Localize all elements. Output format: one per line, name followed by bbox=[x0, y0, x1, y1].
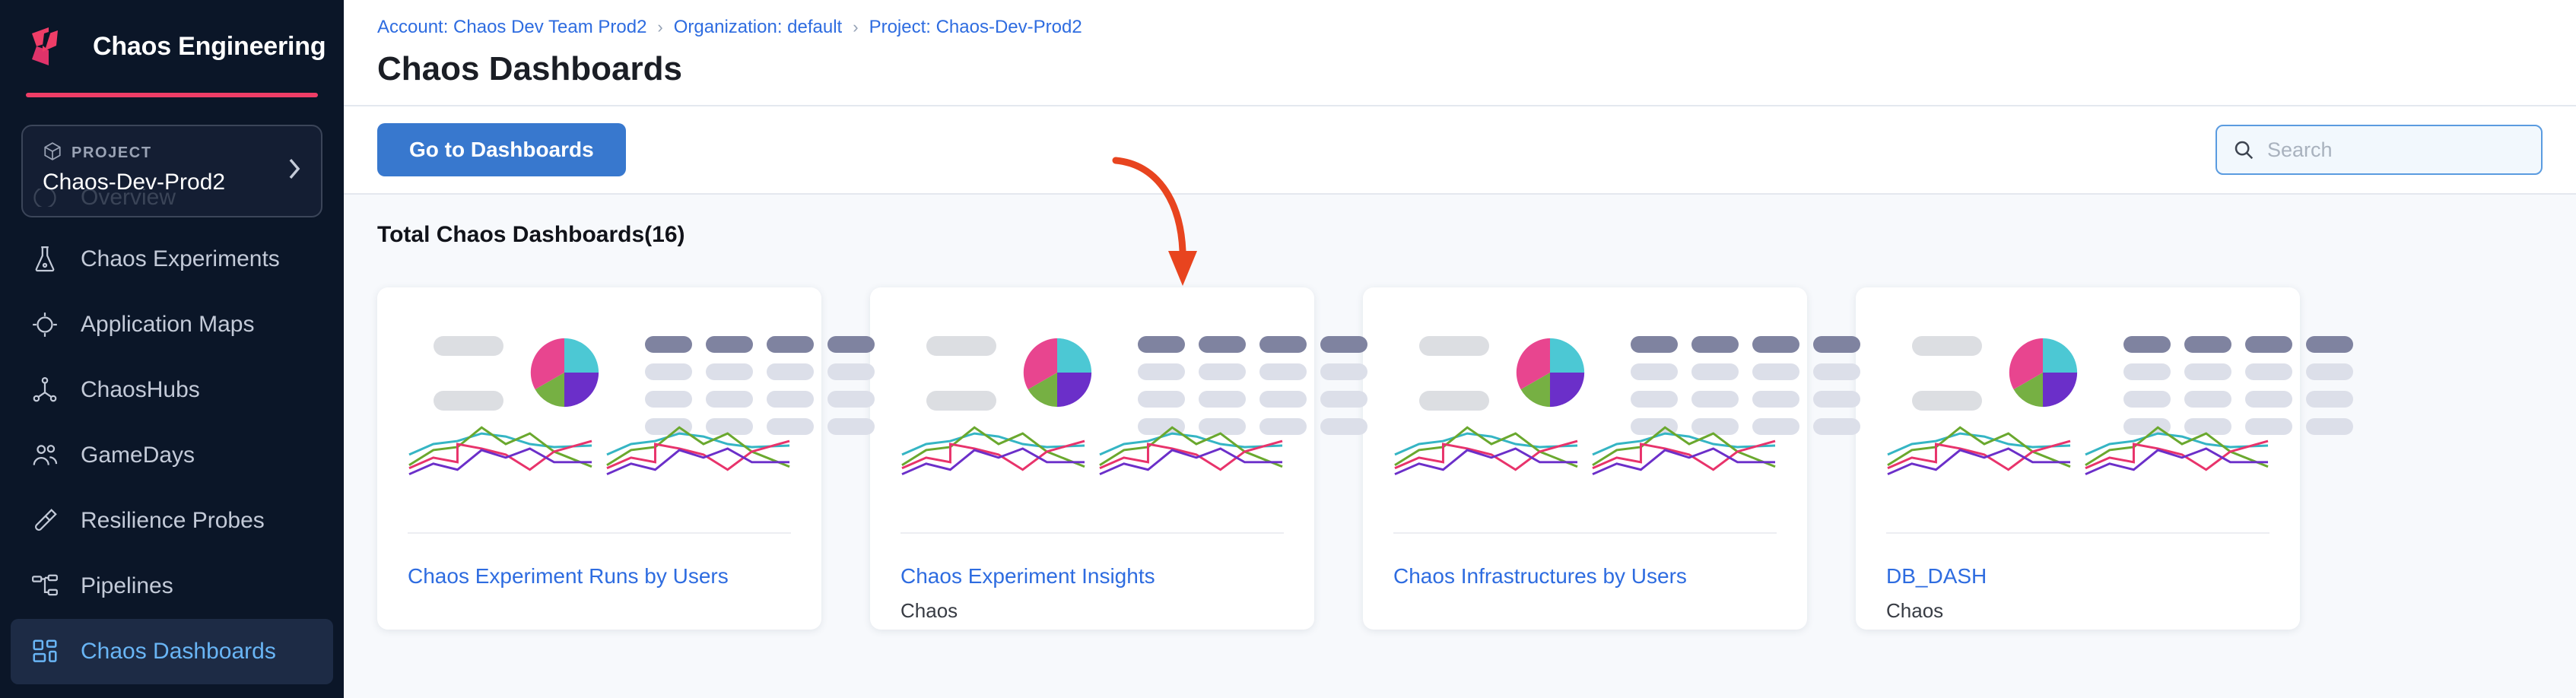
sidebar-item-resilience-probes[interactable]: Resilience Probes bbox=[11, 488, 333, 554]
sidebar-nav-scroll[interactable]: Overview Chaos Experiments bbox=[0, 189, 344, 698]
target-icon bbox=[29, 309, 61, 341]
sidebar-item-application-maps[interactable]: Application Maps bbox=[11, 292, 333, 357]
sidebar-item-overview[interactable]: Overview bbox=[11, 189, 333, 207]
breadcrumb-project[interactable]: Project: Chaos-Dev-Prod2 bbox=[869, 17, 1082, 38]
dashboard-card-title[interactable]: Chaos Experiment Runs by Users bbox=[408, 564, 791, 589]
dashboard-thumbnail bbox=[1393, 322, 1777, 505]
breadcrumb: Account: Chaos Dev Team Prod2 › Organiza… bbox=[377, 17, 2543, 38]
sidebar-item-gamedays[interactable]: GameDays bbox=[11, 423, 333, 488]
action-toolbar: Go to Dashboards bbox=[344, 105, 2576, 195]
dashboard-card[interactable]: Chaos Infrastructures by Users bbox=[1363, 287, 1807, 630]
sidebar-item-label: Pipelines bbox=[81, 573, 173, 599]
thumbnail-stat-pills bbox=[1393, 336, 1489, 411]
dashboard-card-title[interactable]: DB_DASH bbox=[1886, 564, 2269, 589]
users-icon bbox=[29, 439, 61, 471]
topbar: Account: Chaos Dev Team Prod2 › Organiza… bbox=[344, 0, 2576, 105]
dashboard-card[interactable]: Chaos Experiment Insights Chaos bbox=[870, 287, 1314, 630]
chevron-right-icon[interactable] bbox=[286, 156, 303, 186]
pie-chart-icon bbox=[528, 336, 601, 409]
sidebar-item-label: Application Maps bbox=[81, 312, 254, 338]
card-divider bbox=[900, 532, 1284, 534]
thumbnail-top-row bbox=[408, 322, 791, 406]
dashboard-thumbnail bbox=[408, 322, 791, 505]
thumbnail-stat-pills bbox=[1886, 336, 1982, 411]
thumbnail-top-row bbox=[900, 322, 1284, 406]
cube-icon bbox=[43, 141, 62, 165]
chevron-right-icon: › bbox=[657, 17, 662, 37]
dashboard-card-title[interactable]: Chaos Infrastructures by Users bbox=[1393, 564, 1777, 589]
thumbnail-line-charts bbox=[1393, 411, 1777, 479]
dashboard-card[interactable]: DB_DASH Chaos bbox=[1856, 287, 2300, 630]
sidebar-item-label: GameDays bbox=[81, 443, 195, 468]
brand-header: Chaos Engineering bbox=[0, 0, 344, 93]
thumbnail-line-charts bbox=[1886, 411, 2269, 479]
dashboard-card[interactable]: Chaos Experiment Runs by Users bbox=[377, 287, 821, 630]
main-area: Account: Chaos Dev Team Prod2 › Organiza… bbox=[344, 0, 2576, 698]
breadcrumb-organization[interactable]: Organization: default bbox=[674, 17, 842, 38]
breadcrumb-account[interactable]: Account: Chaos Dev Team Prod2 bbox=[377, 17, 646, 38]
card-divider bbox=[1393, 532, 1777, 534]
sidebar-item-label: Overview bbox=[81, 189, 176, 207]
flask-icon bbox=[29, 243, 61, 275]
pie-chart-icon bbox=[2006, 336, 2079, 409]
sidebar-item-chaoshubs[interactable]: ChaosHubs bbox=[11, 357, 333, 423]
total-dashboards-label: Total Chaos Dashboards(16) bbox=[377, 222, 2543, 248]
sidebar-item-label: Chaos Experiments bbox=[81, 246, 280, 272]
pie-chart-icon bbox=[1021, 336, 1094, 409]
card-divider bbox=[408, 532, 791, 534]
dashboard-grid-icon bbox=[29, 636, 61, 668]
hub-nodes-icon bbox=[29, 374, 61, 406]
thumbnail-line-charts bbox=[408, 411, 791, 479]
search-box[interactable] bbox=[2215, 125, 2543, 175]
search-input[interactable] bbox=[2267, 138, 2526, 162]
pie-chart-icon bbox=[1514, 336, 1587, 409]
sidebar-item-chaos-experiments[interactable]: Chaos Experiments bbox=[11, 227, 333, 292]
sidebar-nav: Overview Chaos Experiments bbox=[0, 189, 344, 684]
thumbnail-top-row bbox=[1886, 322, 2269, 406]
page-title: Chaos Dashboards bbox=[377, 50, 2543, 105]
brand-accent-underline bbox=[26, 93, 318, 97]
overview-icon bbox=[29, 189, 61, 207]
dashboard-card-subtitle: Chaos bbox=[1886, 599, 2269, 623]
app-root: Chaos Engineering PROJECT Chaos-Dev-Prod… bbox=[0, 0, 2576, 698]
dashboard-card-subtitle: Chaos bbox=[900, 599, 1284, 623]
sidebar-item-label: ChaosHubs bbox=[81, 377, 200, 403]
harness-logo-icon bbox=[26, 23, 73, 70]
sidebar: Chaos Engineering PROJECT Chaos-Dev-Prod… bbox=[0, 0, 344, 698]
sidebar-item-chaos-dashboards[interactable]: Chaos Dashboards bbox=[11, 619, 333, 684]
dashboard-card-title[interactable]: Chaos Experiment Insights bbox=[900, 564, 1284, 589]
thumbnail-top-row bbox=[1393, 322, 1777, 406]
card-divider bbox=[1886, 532, 2269, 534]
chevron-right-icon: › bbox=[853, 17, 858, 37]
dashboard-thumbnail bbox=[900, 322, 1284, 505]
dashboard-card-grid: Chaos Experiment Runs by Users bbox=[377, 287, 2543, 630]
sidebar-item-label: Chaos Dashboards bbox=[81, 639, 276, 665]
dashboards-content: Total Chaos Dashboards(16) bbox=[344, 195, 2576, 698]
test-tube-icon bbox=[29, 505, 61, 537]
thumbnail-stat-pills bbox=[900, 336, 996, 411]
pipeline-icon bbox=[29, 570, 61, 602]
sidebar-item-pipelines[interactable]: Pipelines bbox=[11, 554, 333, 619]
go-to-dashboards-button[interactable]: Go to Dashboards bbox=[377, 123, 626, 176]
project-selector-label: PROJECT bbox=[71, 144, 152, 162]
sidebar-item-label: Resilience Probes bbox=[81, 508, 265, 534]
dashboard-thumbnail bbox=[1886, 322, 2269, 505]
search-icon bbox=[2232, 138, 2255, 161]
thumbnail-stat-pills bbox=[408, 336, 503, 411]
thumbnail-line-charts bbox=[900, 411, 1284, 479]
brand-name: Chaos Engineering bbox=[93, 32, 326, 62]
project-selector-head: PROJECT bbox=[43, 141, 304, 165]
